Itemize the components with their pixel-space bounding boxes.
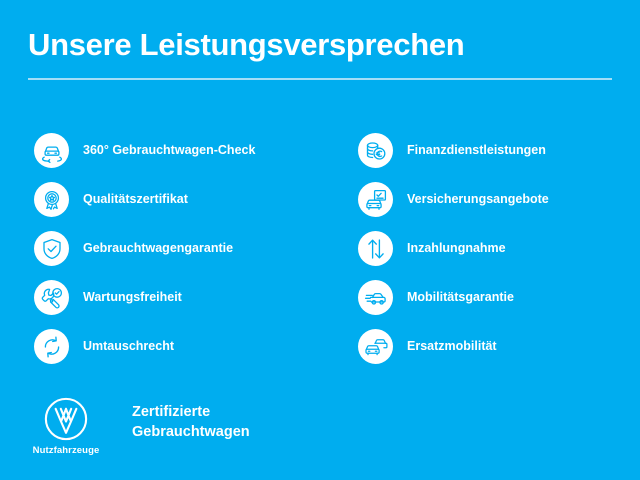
list-item: Ersatzmobilität	[358, 322, 640, 371]
footer-line-2: Gebrauchtwagen	[132, 423, 250, 443]
coins-euro-icon	[358, 133, 393, 168]
list-item: Mobilitätsgarantie	[358, 273, 640, 322]
award-rosette-icon	[34, 182, 69, 217]
list-item: Qualitätszertifikat	[34, 175, 320, 224]
brand-block: Nutzfahrzeuge	[30, 396, 102, 456]
list-item-label: Qualitätszertifikat	[83, 192, 188, 207]
benefits-column-left: 360° Gebrauchtwagen-Check Qualitätszerti…	[0, 126, 320, 371]
up-down-arrows-icon	[358, 231, 393, 266]
two-cars-icon	[358, 329, 393, 364]
page-title: Unsere Leistungsversprechen	[28, 28, 612, 62]
benefits-columns: 360° Gebrauchtwagen-Check Qualitätszerti…	[0, 126, 640, 371]
shield-check-icon	[34, 231, 69, 266]
list-item: 360° Gebrauchtwagen-Check	[34, 126, 320, 175]
exchange-arrows-icon	[34, 329, 69, 364]
footer-line-1: Zertifizierte	[132, 403, 250, 423]
list-item-label: Versicherungsangebote	[407, 192, 549, 207]
footer: Nutzfahrzeuge Zertifizierte Gebrauchtwag…	[30, 396, 250, 456]
list-item-label: Gebrauchtwagengarantie	[83, 241, 233, 256]
list-item-label: 360° Gebrauchtwagen-Check	[83, 143, 255, 158]
car-checklist-icon	[358, 182, 393, 217]
car-360-check-icon	[34, 133, 69, 168]
benefits-column-right: Finanzdienstleistungen	[320, 126, 640, 371]
promise-slide: Unsere Leistungsversprechen 360° Gebrauc	[0, 0, 640, 480]
header: Unsere Leistungsversprechen	[28, 28, 612, 80]
list-item-label: Inzahlungnahme	[407, 241, 506, 256]
vw-logo-icon	[43, 396, 89, 442]
wrench-check-icon	[34, 280, 69, 315]
list-item: Inzahlungnahme	[358, 224, 640, 273]
list-item-label: Wartungsfreiheit	[83, 290, 182, 305]
header-divider	[28, 78, 612, 80]
list-item: Versicherungsangebote	[358, 175, 640, 224]
car-motion-icon	[358, 280, 393, 315]
list-item: Wartungsfreiheit	[34, 273, 320, 322]
list-item: Finanzdienstleistungen	[358, 126, 640, 175]
list-item-label: Ersatzmobilität	[407, 339, 497, 354]
list-item-label: Finanzdienstleistungen	[407, 143, 546, 158]
list-item-label: Umtauschrecht	[83, 339, 174, 354]
list-item: Gebrauchtwagengarantie	[34, 224, 320, 273]
footer-text: Zertifizierte Gebrauchtwagen	[132, 403, 250, 442]
list-item-label: Mobilitätsgarantie	[407, 290, 514, 305]
list-item: Umtauschrecht	[34, 322, 320, 371]
brand-subtitle: Nutzfahrzeuge	[33, 445, 100, 456]
